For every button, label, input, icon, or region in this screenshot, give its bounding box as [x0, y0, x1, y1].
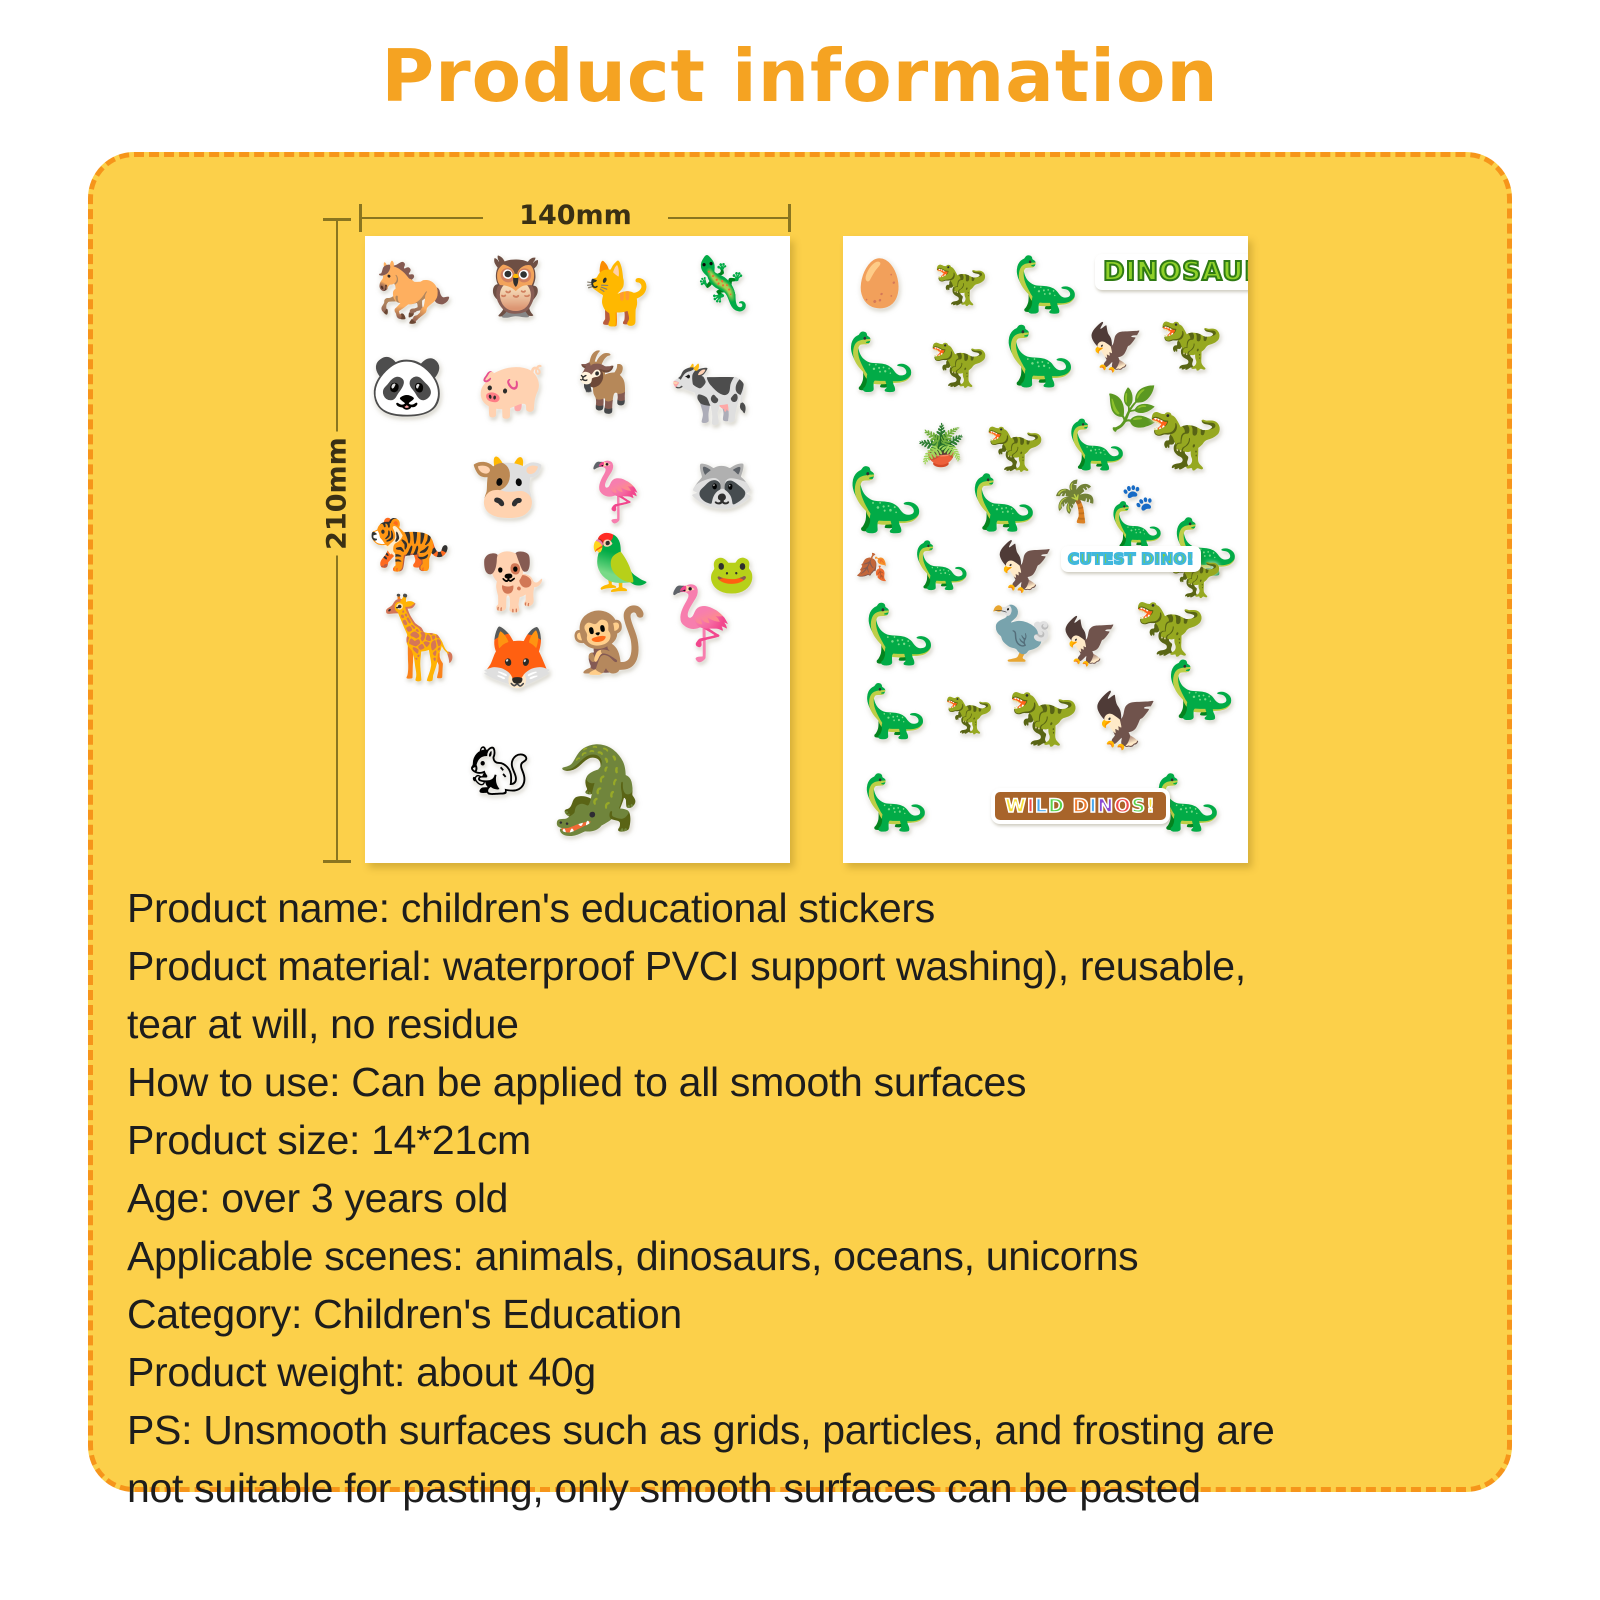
product-info-card: 140mm 210mm 🐎🦉🐈🦎🐼🐖🐐🐄🐮🦩🦝🐅🐕🦜🐸🦩🦒🦊🐒🐿🐊 🥚🦖🦕🦕🦖🦕… — [88, 152, 1512, 1492]
brachiosaurus-teal-sticker: 🦕 — [853, 334, 909, 390]
toucan-sticker: 🦩 — [587, 464, 645, 522]
triceratops-blue-sticker: 🦕 — [869, 686, 921, 738]
brontosaurus-green-sticker: 🦕 — [1073, 422, 1121, 470]
brachiosaurus-blue-sticker: 🦕 — [855, 470, 917, 532]
dinosaur-word-sticker: DINOSAUR — [1095, 254, 1248, 290]
height-dimension-cap-bottom — [323, 860, 351, 863]
pterodactyl-orange-sticker: 🦅 — [1099, 694, 1153, 748]
wild-dinos-word-sticker: WILD DINOS! — [991, 788, 1170, 824]
pig-sticker: 🐖 — [483, 362, 539, 418]
info-line: How to use: Can be applied to all smooth… — [127, 1053, 1499, 1111]
info-line: tear at will, no residue — [127, 995, 1499, 1053]
info-line: Product material: waterproof PVCI suppor… — [127, 937, 1499, 995]
cow-brown-sticker: 🐄 — [677, 358, 743, 424]
page-title: Product information — [0, 34, 1600, 118]
horse-sticker: 🐎 — [383, 262, 445, 324]
info-line: Product size: 14*21cm — [127, 1111, 1499, 1169]
cutest-dino-word-sticker: CUTEST DINO! — [1061, 546, 1201, 572]
dinosaur-sticker-sheet: 🥚🦖🦕🦕🦖🦕🦅🦖🌿🪴🦖🦕🦖🦕🦕🌴🐾🦕🦕🍂🦕🦅🦖🦕🦤🦅🦖🦕🦖🦖🦅🦕🦕🦕DINOSA… — [843, 236, 1248, 863]
trex-blue-sticker: 🦖 — [1165, 318, 1217, 370]
owl-sticker: 🦉 — [487, 258, 545, 316]
spinosaurus-yellow-sticker: 🦖 — [1155, 408, 1217, 470]
small-brown-dino-sticker: 🦕 — [1115, 504, 1159, 548]
info-line: Category: Children's Education — [127, 1285, 1499, 1343]
potted-fern-sticker: 🪴 — [921, 426, 961, 466]
stegosaurus-orange-sticker: 🦕 — [1019, 258, 1073, 312]
crocodile-sticker: 🐊 — [555, 748, 639, 832]
mini-green-dino-sticker: 🦖 — [949, 694, 989, 734]
trex-teal-sticker: 🦖 — [1141, 598, 1199, 656]
sticker-showcase: 140mm 210mm 🐎🦉🐈🦎🐼🐖🐐🐄🐮🦩🦝🐅🐕🦜🐸🦩🦒🦊🐒🐿🐊 🥚🦖🦕🦕🦖🦕… — [93, 157, 1517, 877]
panda-sticker: 🐼 — [377, 356, 437, 416]
info-line: Product name: children's educational sti… — [127, 879, 1499, 937]
raptor-green-sticker: 🦖 — [991, 424, 1039, 472]
raccoon-sticker: 🦝 — [695, 458, 749, 512]
info-line: PS: Unsmooth surfaces such as grids, par… — [127, 1401, 1499, 1459]
hatching-dino-sticker: 🥚 — [857, 260, 903, 306]
parasaurolophus-gold-sticker: 🦕 — [871, 606, 929, 664]
width-dimension-label: 140mm — [483, 198, 668, 233]
width-dimension-cap-left — [359, 204, 362, 232]
lizard-sticker: 🦎 — [695, 258, 747, 310]
giraffe-sticker: 🦒 — [379, 598, 459, 678]
palm-tree-sticker: 🌴 — [1055, 482, 1095, 522]
dairy-cow-sticker: 🐮 — [477, 456, 539, 518]
fox-sticker: 🦊 — [487, 628, 547, 688]
tiger-sticker: 🐅 — [377, 504, 443, 570]
pink-pterosaur-sticker: 🦅 — [1067, 618, 1113, 664]
flamingo-sticker: 🦩 — [665, 588, 737, 660]
info-line: Age: over 3 years old — [127, 1169, 1499, 1227]
green-dino-sticker: 🦕 — [919, 542, 965, 588]
pterodactyl-yellow-sticker: 🦅 — [1093, 324, 1139, 370]
purple-ankylosaurus-sticker: 🦕 — [869, 776, 923, 830]
animal-sticker-sheet: 🐎🦉🐈🦎🐼🐖🐐🐄🐮🦩🦝🐅🐕🦜🐸🦩🦒🦊🐒🐿🐊 — [365, 236, 790, 863]
parrot-sticker: 🦜 — [593, 536, 647, 590]
dodo-bird-sticker: 🦤 — [995, 608, 1047, 660]
info-line: not suitable for pasting, only smooth su… — [127, 1459, 1499, 1517]
raptor-purple-sticker: 🦖 — [1015, 688, 1073, 746]
product-info-text: Product name: children's educational sti… — [127, 879, 1499, 1517]
pteranodon-yellow-sticker: 🦅 — [1001, 544, 1049, 592]
width-dimension-cap-right — [788, 204, 791, 232]
red-leaf-sticker: 🍂 — [859, 554, 885, 580]
dog-sticker: 🐕 — [487, 554, 543, 610]
monkey-sticker: 🐒 — [577, 608, 641, 672]
pink-brachiosaurus-sticker: 🦕 — [1173, 662, 1229, 718]
parasaurolophus-sticker: 🦕 — [1011, 328, 1069, 386]
cat-sticker: 🐈 — [587, 264, 647, 324]
iguanodon-purple-sticker: 🦕 — [977, 476, 1031, 530]
squirrel-sticker: 🐿 — [475, 748, 523, 796]
baby-triceratops-sticker: 🦖 — [939, 262, 983, 306]
goat-sticker: 🐐 — [575, 354, 633, 412]
trex-green-sticker: 🦖 — [935, 340, 983, 388]
info-line: Product weight: about 40g — [127, 1343, 1499, 1401]
info-line: Applicable scenes: animals, dinosaurs, o… — [127, 1227, 1499, 1285]
height-dimension-cap-top — [323, 218, 351, 221]
height-dimension-label: 210mm — [319, 432, 356, 556]
